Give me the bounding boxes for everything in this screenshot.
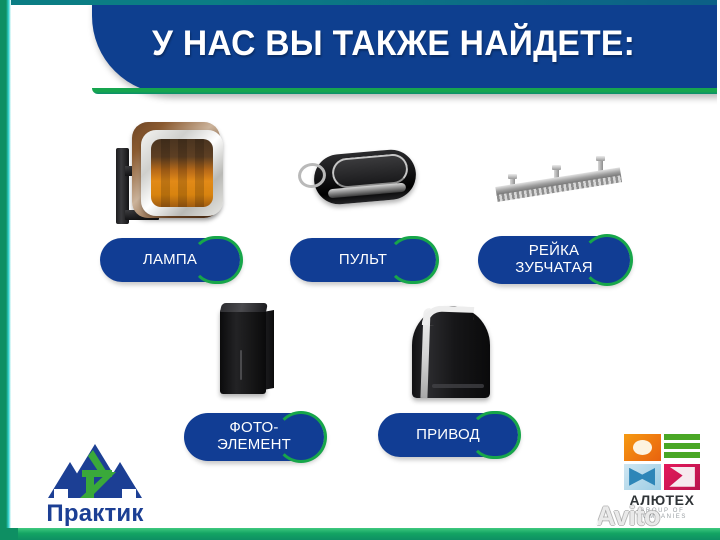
page-title: У НАС ВЫ ТАКЖЕ НАЙДЕТЕ: [152,12,684,76]
product-label-text: РЕЙКА ЗУБЧАТАЯ [505,243,603,277]
frame-bottom-border [0,528,720,540]
product-label-text: ПРИВОД [406,427,490,444]
product-label-text: ФОТО- ЭЛЕМЕНТ [207,420,301,454]
alutech-tile-blue-icon [624,464,661,491]
product-label-photocell[interactable]: ФОТО- ЭЛЕМЕНТ [184,413,324,461]
product-label-remote[interactable]: ПУЛЬТ [290,238,436,282]
product-art-gear-rack [492,155,632,220]
alutech-logo-subtitle: GROUP OF COMPANIES [616,508,708,520]
alutech-logo-name: АЛЮТЕХ [616,492,708,508]
alutech-tile-green-icon [664,434,701,461]
photocell-top-face [220,303,268,312]
rack-teeth [497,175,623,202]
product-label-line-2: ЗУБЧАТАЯ [515,260,593,277]
lamp-lens-bar [195,139,204,207]
alutech-tile-red-icon [664,464,701,491]
frame-left-border [0,0,11,540]
praktik-logo-name: Практик [30,500,160,528]
product-art-remote [292,142,432,222]
alutech-tile-orange-icon [624,434,661,461]
alutech-logo-tiles [624,434,700,490]
product-label-line-1: РЕЙКА [515,243,593,260]
lamp-lens-bar [178,139,187,207]
product-label-line-1: ФОТО- [217,420,291,437]
product-label-line-2: ЭЛЕМЕНТ [217,437,291,454]
slide-canvas: У НАС ВЫ ТАКЖЕ НАЙДЕТЕ: ЛАМПА ПУЛЬТ [0,0,720,540]
product-label-gate-drive[interactable]: ПРИВОД [378,413,518,457]
rack-stud-head [552,165,561,170]
alutech-logo: АЛЮТЕХ GROUP OF COMPANIES [616,434,708,524]
product-art-lamp [110,118,240,233]
frame-bottom-left-cap [0,528,18,540]
product-art-photocell [196,300,316,405]
photocell-body [220,308,266,394]
header-banner: У НАС ВЫ ТАКЖЕ НАЙДЕТЕ: [92,0,720,94]
product-label-text: ЛАМПА [133,252,207,269]
product-art-gate-drive [396,300,516,405]
lamp-lens-bar [161,139,170,207]
avito-bubbles-icon [560,501,594,531]
drive-seam [432,384,484,388]
product-label-text: ПУЛЬТ [329,252,397,269]
header-green-stripe [92,88,720,94]
alutech-tile-green-bars [664,434,701,461]
lamp-amber-lens [151,139,213,207]
photocell-lens-line [240,350,242,380]
frame-top-border [0,0,720,5]
product-label-lamp[interactable]: ЛАМПА [100,238,240,282]
rack-stud-head [508,174,517,179]
drive-white-stripe-top [422,305,475,327]
product-label-gear-rack[interactable]: РЕЙКА ЗУБЧАТАЯ [478,236,630,284]
praktik-logo: Практик [30,442,160,534]
rack-stud-head [596,156,605,161]
praktik-logo-mark [30,442,160,500]
